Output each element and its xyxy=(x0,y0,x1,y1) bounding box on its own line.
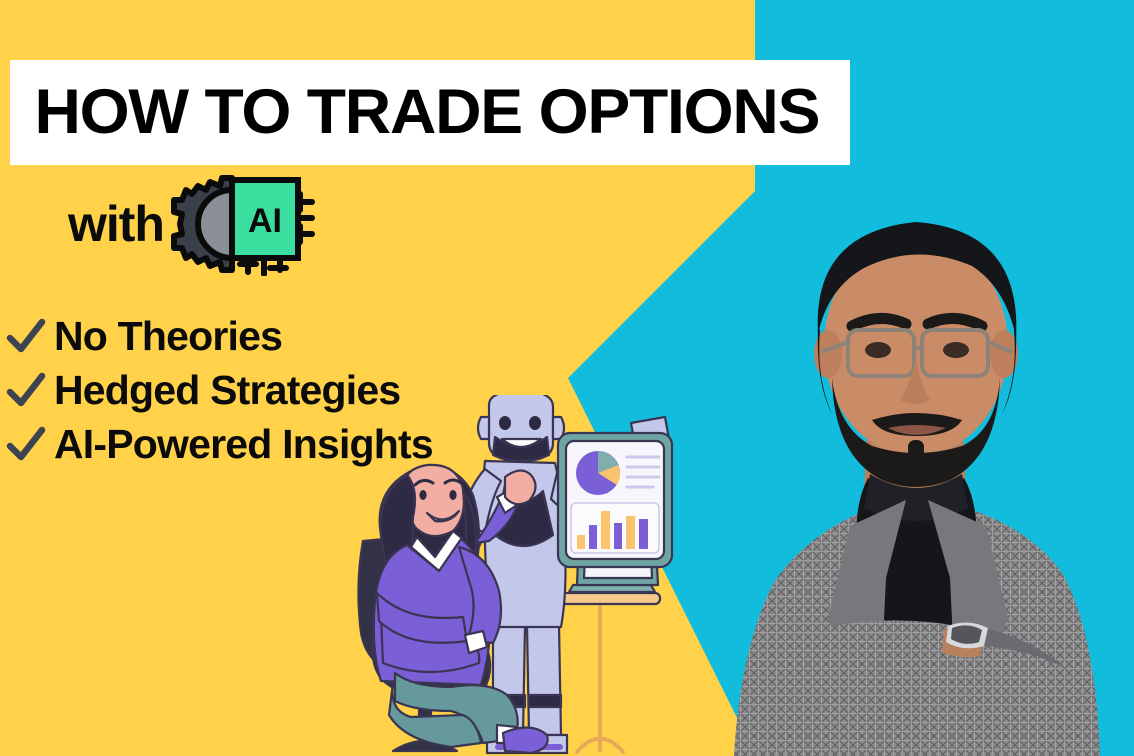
ai-chip-label: AI xyxy=(248,202,282,240)
subtitle-text: with xyxy=(68,199,164,249)
clipboard-pie-chart xyxy=(576,451,620,495)
list-item: No Theories xyxy=(4,310,433,362)
woman-robot-analytics-illustration xyxy=(355,395,735,756)
presenter-photo xyxy=(700,178,1134,756)
list-item-label: Hedged Strategies xyxy=(54,370,400,411)
checkmark-icon xyxy=(4,314,48,358)
ai-chip-gear-icon: AI xyxy=(170,172,316,276)
subtitle-row: with AI xyxy=(68,172,316,276)
title-banner: HOW TO TRADE OPTIONS xyxy=(10,60,850,165)
checkmark-icon xyxy=(4,368,48,412)
checkmark-icon xyxy=(4,422,48,466)
list-item-label: No Theories xyxy=(54,316,282,357)
page-title: HOW TO TRADE OPTIONS xyxy=(10,81,819,144)
clipboard-with-charts xyxy=(558,417,672,567)
thumbnail-canvas: HOW TO TRADE OPTIONS with xyxy=(0,0,1134,756)
